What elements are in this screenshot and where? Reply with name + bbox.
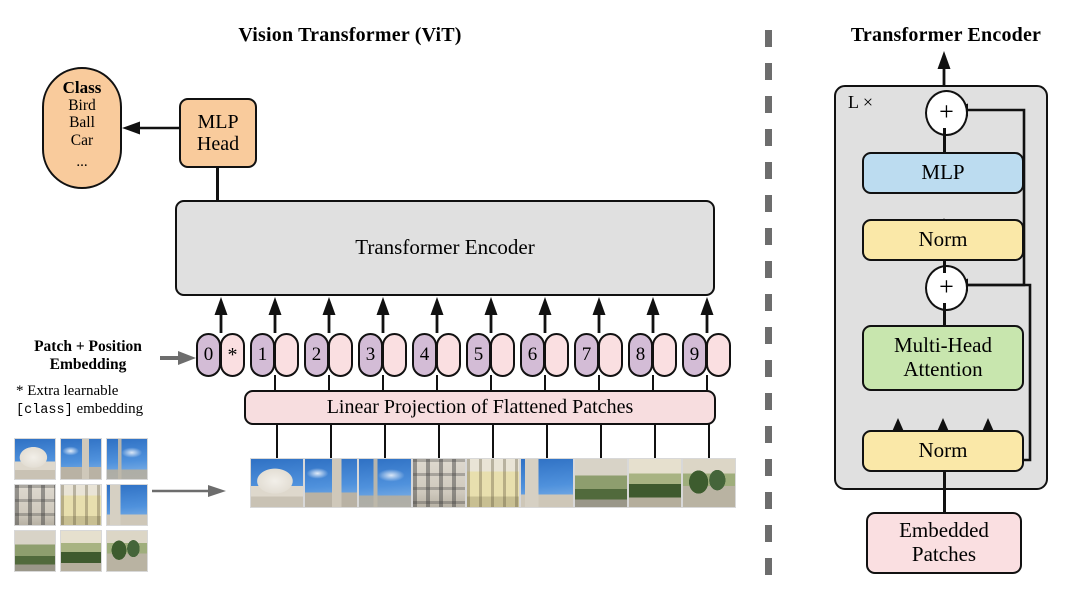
divider-dash — [765, 558, 772, 575]
divider-dash — [765, 393, 772, 410]
right-panel-title: Transformer Encoder — [812, 24, 1080, 47]
embedded-patches-line1: Embedded — [899, 519, 989, 543]
flattened-image-patch — [574, 458, 628, 508]
token-index-pill: 0 — [196, 333, 221, 377]
token-embedding-pill — [328, 333, 353, 377]
token-index-label: 5 — [468, 335, 489, 375]
token-index-label: 0 — [198, 335, 219, 375]
patch-position-token: 9 — [682, 333, 732, 377]
token-index-pill: 4 — [412, 333, 437, 377]
class-token-asterisk: * — [222, 335, 243, 379]
patch-position-token: 0* — [196, 333, 246, 377]
patch-position-token: 5 — [466, 333, 516, 377]
flattened-image-patch — [466, 458, 520, 508]
token-index-label: 8 — [630, 335, 651, 375]
stem-add-bottom-to-norm — [943, 259, 946, 273]
token-embedding-pill — [382, 333, 407, 377]
patch-position-token: 1 — [250, 333, 300, 377]
token-embedding-pill — [544, 333, 569, 377]
token-index-pill: 8 — [628, 333, 653, 377]
stem-add-top-to-mlp — [943, 128, 946, 154]
patch-to-projection-line — [438, 424, 441, 458]
divider-dash — [765, 96, 772, 113]
token-embedding-pill — [274, 333, 299, 377]
patch-position-token: 2 — [304, 333, 354, 377]
norm-upper-label: Norm — [919, 228, 968, 252]
divider-dash — [765, 525, 772, 542]
token-index-pill: 2 — [304, 333, 329, 377]
flattened-image-patch — [304, 458, 358, 508]
token-index-label: 4 — [414, 335, 435, 375]
divider-dash — [765, 492, 772, 509]
token-index-pill: 5 — [466, 333, 491, 377]
patch-position-token: 6 — [520, 333, 570, 377]
divider-dash — [765, 162, 772, 179]
token-index-pill: 9 — [682, 333, 707, 377]
flattened-image-patch — [628, 458, 682, 508]
token-embedding-pill — [598, 333, 623, 377]
patch-to-projection-line — [654, 424, 657, 458]
stem-attention-to-add — [943, 303, 946, 325]
divider-dash — [765, 30, 772, 47]
patch-to-projection-line — [492, 424, 495, 458]
flattened-image-patch — [682, 458, 736, 508]
divider-dash — [765, 327, 772, 344]
divider-dash — [765, 360, 772, 377]
token-embedding-pill — [652, 333, 677, 377]
patch-to-projection-line — [546, 424, 549, 458]
divider-dash — [765, 195, 772, 212]
attention-line2: Attention — [903, 358, 982, 382]
norm-lower-label: Norm — [919, 439, 968, 463]
patch-position-token: 7 — [574, 333, 624, 377]
token-index-pill: 7 — [574, 333, 599, 377]
token-index-pill: 3 — [358, 333, 383, 377]
token-index-label: 2 — [306, 335, 327, 375]
token-embedding-pill: * — [220, 333, 245, 377]
embedded-patches-line2: Patches — [912, 543, 976, 567]
divider-dash — [765, 228, 772, 245]
token-index-label: 7 — [576, 335, 597, 375]
patch-to-projection-line — [708, 424, 711, 458]
embedded-patches-block: Embedded Patches — [866, 512, 1022, 574]
flattened-image-patch — [520, 458, 574, 508]
divider-dash — [765, 63, 772, 80]
token-embedding-pill — [706, 333, 731, 377]
token-embedding-pill — [490, 333, 515, 377]
divider-dash — [765, 129, 772, 146]
encoder-output-arrow — [936, 50, 952, 88]
multi-head-attention-block: Multi-Head Attention — [862, 325, 1024, 391]
patch-position-token: 8 — [628, 333, 678, 377]
norm-block-upper: Norm — [862, 219, 1024, 261]
patch-to-projection-line — [276, 424, 279, 458]
divider-dash — [765, 426, 772, 443]
patch-to-projection-line — [330, 424, 333, 458]
token-index-pill: 6 — [520, 333, 545, 377]
flattened-image-patch — [358, 458, 412, 508]
attention-line1: Multi-Head — [894, 334, 992, 358]
divider-dash — [765, 294, 772, 311]
mlp-block-label: MLP — [921, 161, 964, 185]
token-embedding-pill — [436, 333, 461, 377]
patch-position-token: 4 — [412, 333, 462, 377]
token-index-pill: 1 — [250, 333, 275, 377]
token-index-label: 9 — [684, 335, 705, 375]
token-index-label: 1 — [252, 335, 273, 375]
divider-dash — [765, 459, 772, 476]
divider-dash — [765, 261, 772, 278]
patch-position-token: 3 — [358, 333, 408, 377]
token-index-label: 3 — [360, 335, 381, 375]
patch-to-projection-line — [384, 424, 387, 458]
panel-divider — [765, 30, 772, 575]
patch-to-projection-line — [600, 424, 603, 458]
token-index-label: 6 — [522, 335, 543, 375]
norm-block-lower: Norm — [862, 430, 1024, 472]
flattened-image-patch — [412, 458, 466, 508]
mlp-block: MLP — [862, 152, 1024, 194]
residual-add-bottom: + — [925, 265, 968, 311]
residual-add-top: + — [925, 90, 968, 136]
flattened-image-patch — [250, 458, 304, 508]
